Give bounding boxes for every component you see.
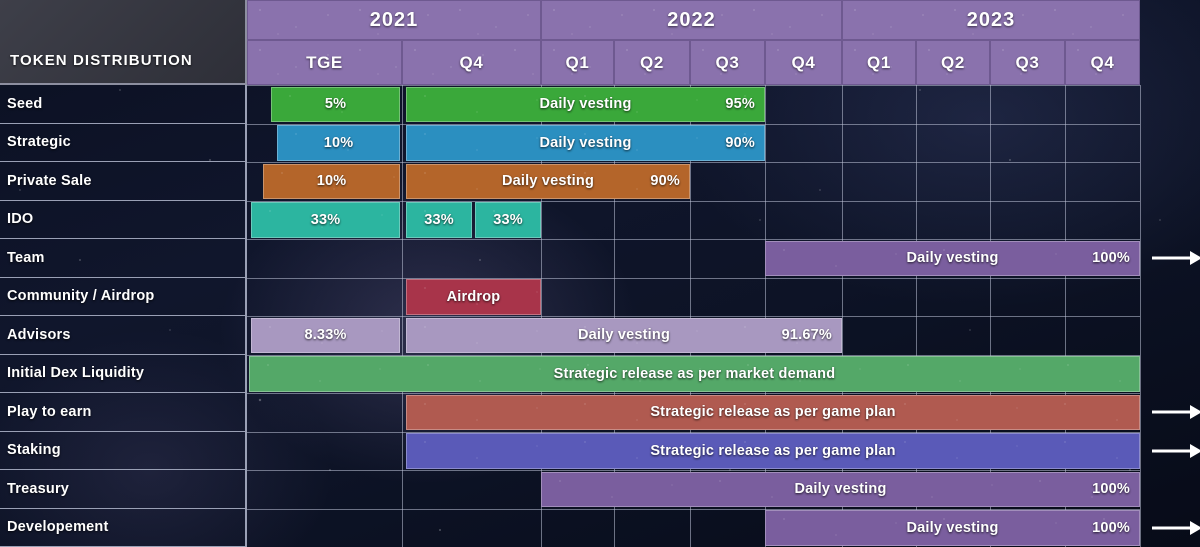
- row-label-community-airdrop: Community / Airdrop: [0, 278, 247, 317]
- bar-right-value: 91.67%: [782, 327, 832, 343]
- row-label-text: Community / Airdrop: [0, 288, 154, 304]
- bar-center-label: 33%: [407, 212, 471, 228]
- bar-center-label: Daily vesting: [407, 327, 841, 343]
- quarter-header-label: TGE: [306, 53, 343, 73]
- schedule-bar[interactable]: Strategic release as per game plan: [406, 433, 1140, 469]
- schedule-bar[interactable]: Airdrop: [406, 279, 541, 315]
- row-label-developement: Developement: [0, 509, 247, 547]
- arrow-right-icon: [1152, 403, 1200, 421]
- bar-center-label: Daily vesting: [407, 96, 764, 112]
- row-label-advisors: Advisors: [0, 316, 247, 355]
- quarter-header-q1-6[interactable]: Q1: [842, 40, 916, 85]
- row-label-text: Private Sale: [0, 173, 92, 189]
- row-label-seed: Seed: [0, 85, 247, 124]
- bar-center-label: Daily vesting: [766, 520, 1139, 536]
- schedule-bar[interactable]: 8.33%: [251, 318, 400, 354]
- quarter-header-q4-5[interactable]: Q4: [765, 40, 842, 85]
- arrow-right-icon: [1152, 249, 1200, 267]
- quarter-header-q2-7[interactable]: Q2: [916, 40, 990, 85]
- row-label-team: Team: [0, 239, 247, 278]
- bar-center-label: Airdrop: [407, 289, 540, 305]
- schedule-bar[interactable]: 33%: [475, 202, 541, 238]
- quarter-header-q4-9[interactable]: Q4: [1065, 40, 1140, 85]
- schedule-bar[interactable]: Daily vesting95%: [406, 87, 765, 123]
- schedule-bar[interactable]: 10%: [263, 164, 400, 200]
- row-label-ido: IDO: [0, 201, 247, 240]
- bar-center-label: Strategic release as per market demand: [250, 366, 1139, 382]
- schedule-bar[interactable]: Daily vesting90%: [406, 164, 690, 200]
- quarter-header-label: Q3: [716, 53, 740, 73]
- quarter-header-tge-0[interactable]: TGE: [247, 40, 402, 85]
- bar-center-label: 33%: [476, 212, 540, 228]
- row-label-text: Play to earn: [0, 404, 92, 420]
- year-header-label: 2021: [370, 9, 419, 32]
- row-label-staking: Staking: [0, 432, 247, 471]
- row-label-private-sale: Private Sale: [0, 162, 247, 201]
- bar-center-label: 5%: [272, 96, 399, 112]
- bar-center-label: 33%: [252, 212, 399, 228]
- schedule-bar[interactable]: 10%: [277, 125, 400, 161]
- schedule-bar[interactable]: 33%: [251, 202, 400, 238]
- bar-right-value: 100%: [1092, 481, 1130, 497]
- schedule-bar[interactable]: Daily vesting100%: [765, 510, 1140, 546]
- bar-center-label: Daily vesting: [407, 135, 764, 151]
- row-label-strategic: Strategic: [0, 124, 247, 163]
- bar-center-label: Daily vesting: [766, 250, 1139, 266]
- schedule-bar[interactable]: 5%: [271, 87, 400, 123]
- row-label-text: Advisors: [0, 327, 71, 343]
- bar-center-label: 10%: [278, 135, 399, 151]
- quarter-header-q3-8[interactable]: Q3: [990, 40, 1065, 85]
- schedule-bar[interactable]: Strategic release as per game plan: [406, 395, 1140, 431]
- bar-right-value: 95%: [725, 96, 755, 112]
- quarter-header-label: Q2: [640, 53, 664, 73]
- page-title: TOKEN DISTRIBUTION: [0, 52, 193, 83]
- row-label-treasury: Treasury: [0, 470, 247, 509]
- year-header-2022: 2022: [541, 0, 842, 40]
- arrow-right-icon: [1152, 519, 1200, 537]
- bar-right-value: 100%: [1092, 520, 1130, 536]
- row-label-text: Strategic: [0, 134, 71, 150]
- schedule-bar[interactable]: Strategic release as per market demand: [249, 356, 1140, 392]
- quarter-header-label: Q1: [566, 53, 590, 73]
- row-label-initial-dex-liquidity: Initial Dex Liquidity: [0, 355, 247, 394]
- year-header-label: 2022: [667, 9, 716, 32]
- table-corner-header: TOKEN DISTRIBUTION: [0, 0, 247, 85]
- schedule-bar[interactable]: Daily vesting90%: [406, 125, 765, 161]
- quarter-header-label: Q4: [460, 53, 484, 73]
- quarter-header-label: Q3: [1016, 53, 1040, 73]
- row-label-text: Seed: [0, 96, 42, 112]
- quarter-header-q4-1[interactable]: Q4: [402, 40, 541, 85]
- bar-center-label: Daily vesting: [542, 481, 1139, 497]
- schedule-bar[interactable]: 33%: [406, 202, 472, 238]
- row-label-text: IDO: [0, 211, 33, 227]
- bar-right-value: 90%: [725, 135, 755, 151]
- row-label-text: Staking: [0, 442, 61, 458]
- grid-hline: [247, 278, 1140, 279]
- bar-center-label: 8.33%: [252, 327, 399, 343]
- bar-center-label: Strategic release as per game plan: [407, 443, 1139, 459]
- quarter-header-q3-4[interactable]: Q3: [690, 40, 765, 85]
- bar-center-label: Daily vesting: [407, 173, 689, 189]
- quarter-header-label: Q1: [867, 53, 891, 73]
- year-header-2023: 2023: [842, 0, 1140, 40]
- bar-right-value: 90%: [650, 173, 680, 189]
- bar-center-label: Strategic release as per game plan: [407, 404, 1139, 420]
- schedule-bar[interactable]: Daily vesting100%: [541, 472, 1140, 508]
- bar-center-label: 10%: [264, 173, 399, 189]
- schedule-bar[interactable]: Daily vesting100%: [765, 241, 1140, 277]
- arrow-right-icon: [1152, 442, 1200, 460]
- quarter-header-label: Q2: [941, 53, 965, 73]
- quarter-header-q2-3[interactable]: Q2: [614, 40, 690, 85]
- year-header-label: 2023: [967, 9, 1016, 32]
- row-label-text: Treasury: [0, 481, 69, 497]
- quarter-header-label: Q4: [792, 53, 816, 73]
- schedule-bar[interactable]: Daily vesting91.67%: [406, 318, 842, 354]
- row-label-text: Team: [0, 250, 45, 266]
- row-label-text: Initial Dex Liquidity: [0, 365, 144, 381]
- quarter-header-label: Q4: [1091, 53, 1115, 73]
- year-header-2021: 2021: [247, 0, 541, 40]
- row-label-play-to-earn: Play to earn: [0, 393, 247, 432]
- row-label-text: Developement: [0, 519, 109, 535]
- grid-vline: [1140, 85, 1141, 547]
- quarter-header-q1-2[interactable]: Q1: [541, 40, 614, 85]
- token-distribution-table: TOKEN DISTRIBUTION 202120222023 TGEQ4Q1Q…: [0, 0, 1200, 547]
- bar-right-value: 100%: [1092, 250, 1130, 266]
